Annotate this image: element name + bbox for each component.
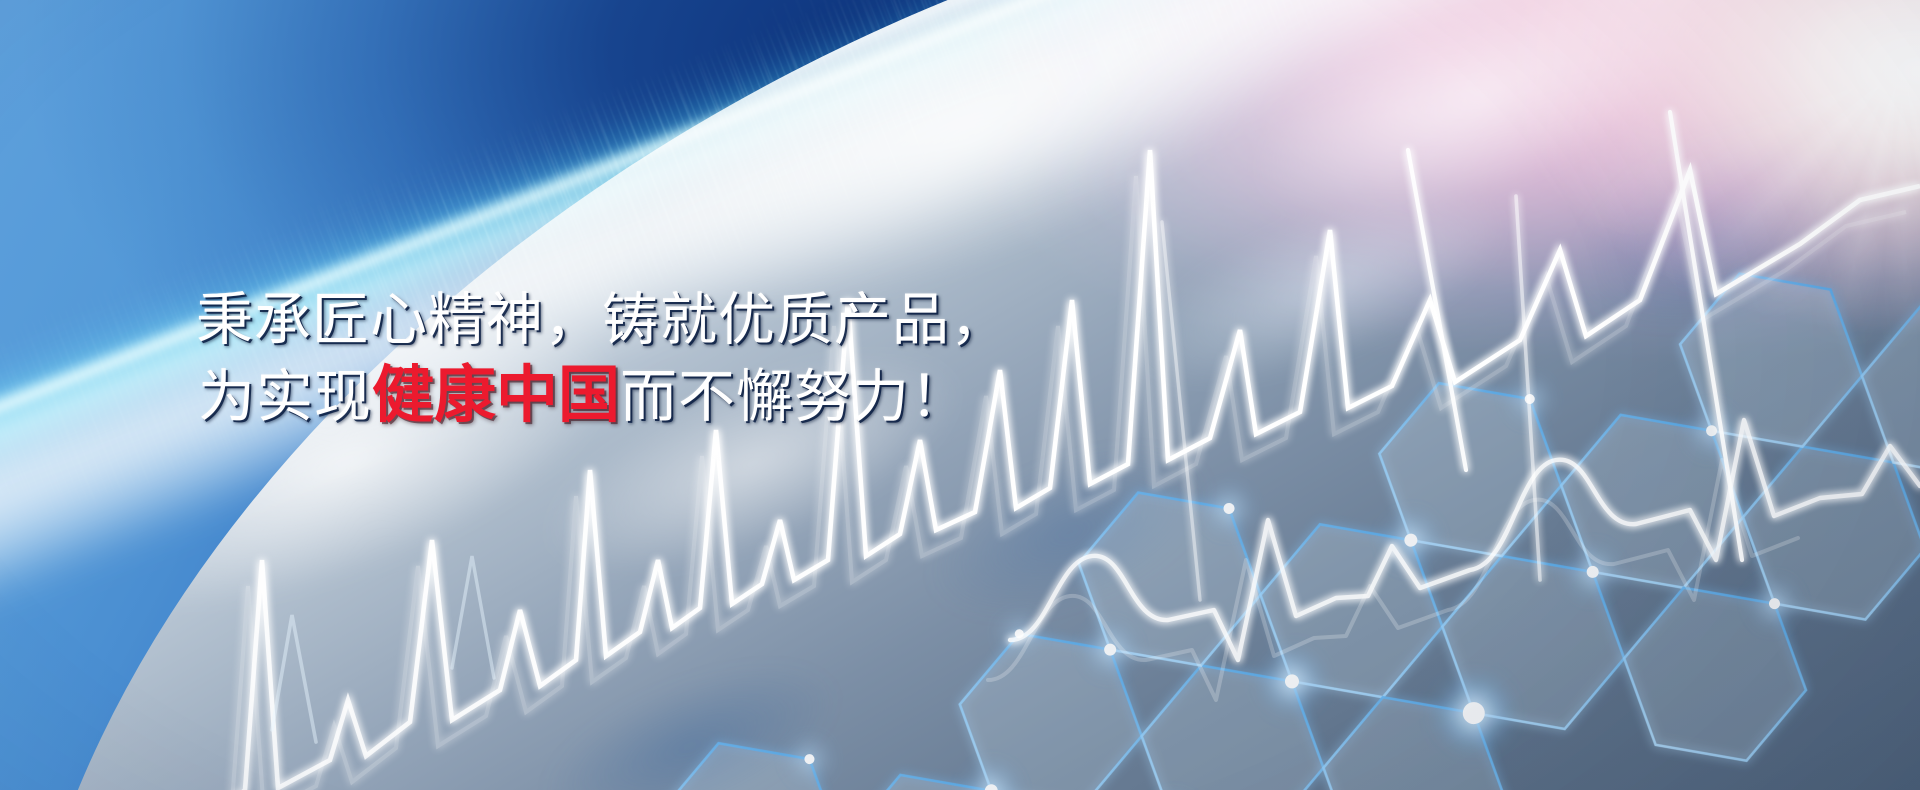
hero-banner: 秉承匠心精神，铸就优质产品， 为实现健康中国而不懈努力！ — [0, 0, 1920, 790]
headline-highlight-red: 健康中国 — [372, 361, 620, 430]
headline-line-2: 为实现健康中国而不懈努力！ — [196, 358, 1008, 435]
headline-block: 秉承匠心精神，铸就优质产品， 为实现健康中国而不懈努力！ — [196, 282, 1008, 435]
headline-line-2-prefix: 为实现 — [198, 365, 372, 429]
headline-line-1: 秉承匠心精神，铸就优质产品， — [196, 282, 1008, 358]
headline-line-2-suffix: 而不懈努力！ — [620, 365, 968, 429]
